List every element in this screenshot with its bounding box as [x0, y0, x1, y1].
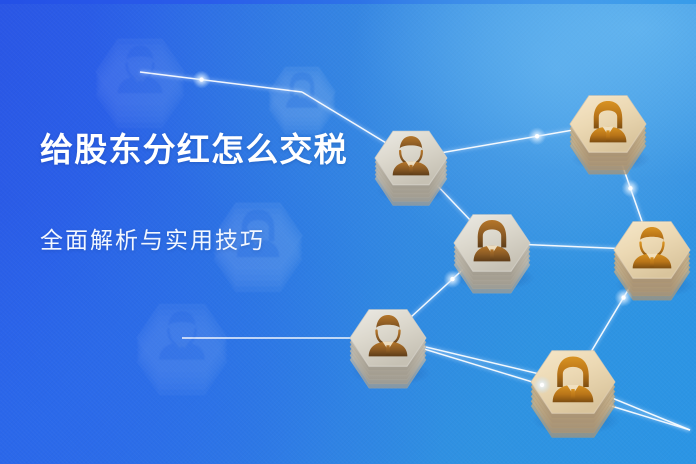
network-node	[375, 131, 452, 205]
banner-graphic: 给股东分红怎么交税 全面解析与实用技巧	[0, 0, 696, 464]
ghost-node	[269, 67, 335, 133]
link-sparkle	[528, 127, 546, 145]
link-sparkle	[443, 270, 461, 288]
network-node	[454, 215, 535, 293]
page-subtitle: 全面解析与实用技巧	[40, 226, 370, 256]
link-sparkle	[193, 71, 211, 89]
page-title: 给股东分红怎么交税	[40, 129, 370, 170]
ghost-node	[137, 304, 227, 394]
link-sparkle	[621, 179, 639, 197]
link-sparkle	[615, 289, 633, 307]
ghost-node	[96, 39, 184, 127]
network-node	[614, 222, 695, 300]
network-node	[350, 310, 431, 388]
link-sparkle	[533, 376, 551, 394]
network-node	[570, 96, 651, 174]
network-nodes	[350, 96, 695, 438]
network-node	[531, 351, 620, 438]
headline-block: 给股东分红怎么交税 全面解析与实用技巧	[40, 129, 370, 256]
